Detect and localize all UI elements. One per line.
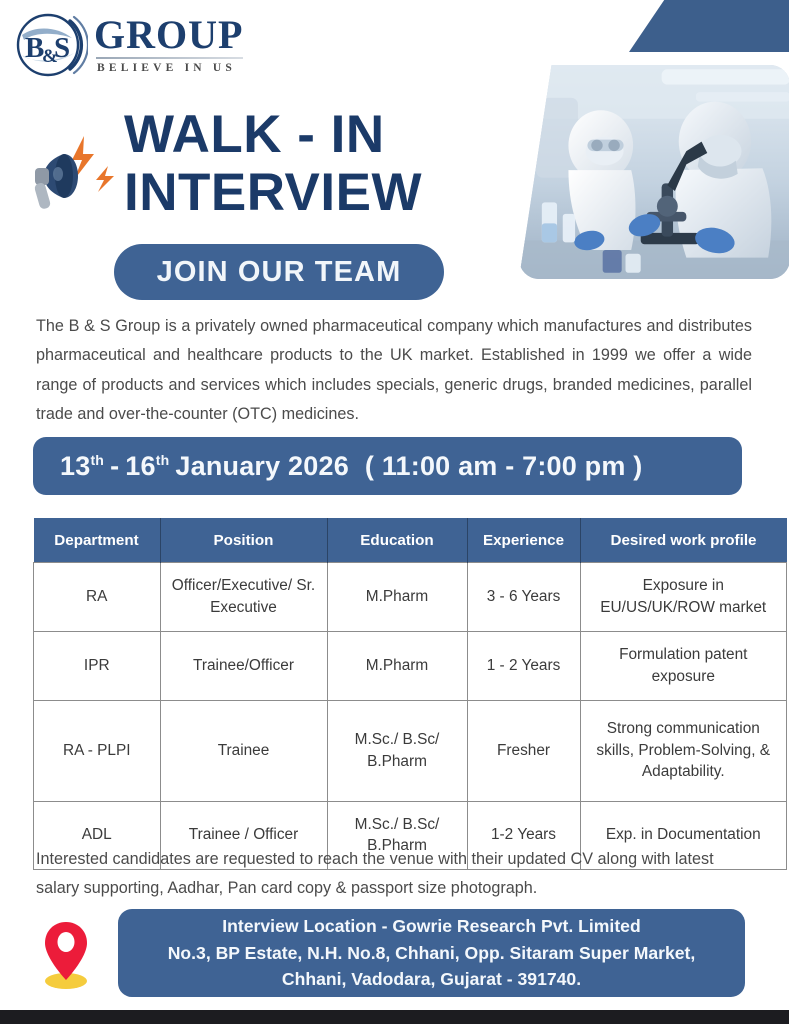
- day-end-ordinal: th: [156, 452, 170, 468]
- day-start: 13: [60, 451, 90, 481]
- vacancies-table: Department Position Education Experience…: [33, 518, 787, 870]
- cell-education: M.Pharm: [327, 631, 467, 700]
- time-range: ( 11:00 am - 7:00 pm ): [365, 451, 643, 481]
- cell-experience: Fresher: [467, 700, 580, 801]
- column-header-department: Department: [34, 518, 161, 563]
- cell-department: RA - PLPI: [34, 700, 161, 801]
- logo-divider: [96, 57, 243, 59]
- bottom-letterbox: [0, 1010, 789, 1024]
- navy-wedge-decoration: [629, 0, 789, 52]
- candidate-instructions: Interested candidates are requested to r…: [36, 845, 752, 903]
- table-row: IPR Trainee/Officer M.Pharm 1 - 2 Years …: [34, 631, 787, 700]
- map-pin-icon: [38, 918, 94, 990]
- column-header-experience: Experience: [467, 518, 580, 563]
- company-logo: B & S GROUP BELIEVE IN US: [12, 6, 243, 84]
- intro-paragraph: The B & S Group is a privately owned pha…: [36, 312, 752, 430]
- column-header-position: Position: [160, 518, 327, 563]
- day-start-ordinal: th: [90, 452, 104, 468]
- date-dash: -: [110, 451, 119, 481]
- headline-line-2: INTERVIEW: [124, 164, 524, 222]
- hero-photo-frame: [512, 58, 789, 286]
- cell-department: IPR: [34, 631, 161, 700]
- cell-position: Trainee/Officer: [160, 631, 327, 700]
- cell-position: Officer/Executive/ Sr. Executive: [160, 563, 327, 632]
- day-end: 16: [125, 451, 155, 481]
- schedule-banner: 13th-16thJanuary 2026( 11:00 am - 7:00 p…: [33, 437, 742, 495]
- bs-monogram-icon: B & S: [12, 7, 88, 83]
- cell-position: Trainee: [160, 700, 327, 801]
- column-header-education: Education: [327, 518, 467, 563]
- schedule-text: 13th-16thJanuary 2026( 11:00 am - 7:00 p…: [33, 451, 642, 482]
- cell-experience: 3 - 6 Years: [467, 563, 580, 632]
- location-line-1: Interview Location - Gowrie Research Pvt…: [222, 913, 640, 940]
- logo-tagline: BELIEVE IN US: [97, 62, 243, 74]
- cell-profile: Strong communication skills, Problem-Sol…: [580, 700, 787, 801]
- join-our-team-label: JOIN OUR TEAM: [157, 256, 402, 289]
- table-row: RA Officer/Executive/ Sr. Executive M.Ph…: [34, 563, 787, 632]
- month-year: January 2026: [175, 451, 349, 481]
- table-header-row: Department Position Education Experience…: [34, 518, 787, 563]
- cell-experience: 1 - 2 Years: [467, 631, 580, 700]
- cell-profile: Formulation patent exposure: [580, 631, 787, 700]
- location-line-2: No.3, BP Estate, N.H. No.8, Chhani, Opp.…: [168, 940, 696, 967]
- cell-education: M.Sc./ B.Sc/ B.Pharm: [327, 700, 467, 801]
- join-our-team-badge: JOIN OUR TEAM: [114, 244, 444, 300]
- table-row: RA - PLPI Trainee M.Sc./ B.Sc/ B.Pharm F…: [34, 700, 787, 801]
- megaphone-icon: [28, 128, 124, 220]
- cell-education: M.Pharm: [327, 563, 467, 632]
- interview-location-banner: Interview Location - Gowrie Research Pvt…: [118, 909, 745, 997]
- cell-department: RA: [34, 563, 161, 632]
- logo-wordmark: GROUP: [94, 16, 243, 54]
- cell-profile: Exposure in EU/US/UK/ROW market: [580, 563, 787, 632]
- location-line-3: Chhani, Vadodara, Gujarat - 391740.: [282, 966, 581, 993]
- page-title: WALK - IN INTERVIEW: [124, 106, 524, 223]
- headline-line-1: WALK - IN: [124, 106, 524, 164]
- svg-text:S: S: [54, 32, 70, 64]
- lab-scientists-photo: [519, 65, 789, 279]
- column-header-profile: Desired work profile: [580, 518, 787, 563]
